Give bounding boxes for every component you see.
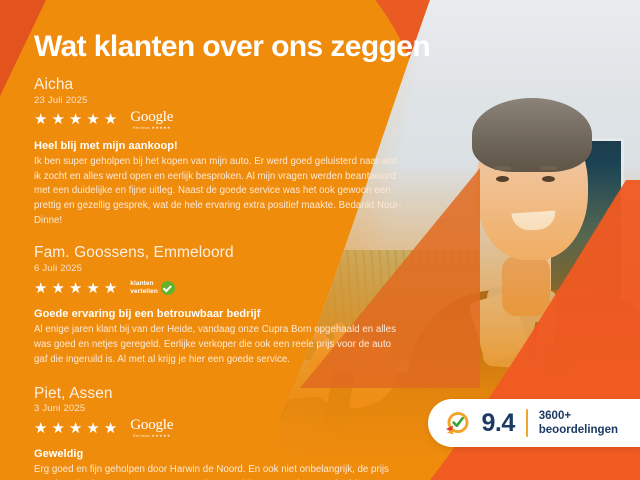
star-icon: ★ [51,112,65,127]
klantenvertellen-logo: klanten vertellen [130,280,175,296]
star-icon: ★ [51,421,65,436]
google-reviews-sublabel: Reviews ★★★★★ [133,126,171,130]
google-wordmark: Google [130,418,173,433]
review-date: 3 Juni 2025 [34,403,418,414]
review-author: Aicha [34,76,418,94]
star-icon: ★ [86,112,100,127]
review-card: Aicha 23 Juli 2025 ★ ★ ★ ★ ★ Google Revi… [34,76,418,228]
klantenvertellen-wordmark: klanten vertellen [130,280,158,296]
review-body: Al enige jaren klant bij van der Heide, … [34,323,406,367]
klantenvertellen-line-2: vertellen [130,288,158,296]
klantenvertellen-line-1: klanten [130,280,158,288]
rating-score: 9.4 [482,411,515,436]
star-icon: ★ [34,112,48,127]
google-wordmark: Google [130,110,173,125]
star-rating: ★ ★ ★ ★ ★ [34,112,118,127]
star-icon: ★ [104,421,118,436]
kiyoh-check-icon [444,410,471,437]
review-date: 23 Juli 2025 [34,95,418,106]
star-icon: ★ [34,421,48,436]
star-icon: ★ [69,112,83,127]
review-body: Ik ben super geholpen bij het kopen van … [34,155,406,229]
review-date: 6 Juli 2025 [34,263,418,274]
review-meta: ★ ★ ★ ★ ★ Google Reviews ★★★★★ [34,417,418,439]
rating-count-number: 3600+ [539,409,618,423]
rating-badge[interactable]: 9.4 3600+ beoordelingen [428,399,640,447]
check-circle-icon [161,281,175,295]
star-rating: ★ ★ ★ ★ ★ [34,421,118,436]
star-icon: ★ [34,281,48,296]
testimonials-content: Wat klanten over ons zeggen Aicha 23 Jul… [0,0,440,480]
star-icon: ★ [69,281,83,296]
google-reviews-logo: Google Reviews ★★★★★ [130,418,173,438]
page-title: Wat klanten over ons zeggen [34,0,418,63]
review-meta: ★ ★ ★ ★ ★ klanten vertellen [34,277,418,299]
star-icon: ★ [51,281,65,296]
review-body: Erg goed en fijn geholpen door Harwin de… [34,463,406,480]
star-icon: ★ [104,281,118,296]
review-title: Geweldig [34,448,418,460]
google-reviews-sublabel: Reviews ★★★★★ [133,434,171,438]
google-reviews-logo: Google Reviews ★★★★★ [130,110,173,130]
review-author: Fam. Goossens, Emmeloord [34,244,418,262]
review-card: Fam. Goossens, Emmeloord 6 Juli 2025 ★ ★… [34,244,418,367]
review-meta: ★ ★ ★ ★ ★ Google Reviews ★★★★★ [34,109,418,131]
star-icon: ★ [86,421,100,436]
review-author: Piet, Assen [34,385,418,403]
star-icon: ★ [104,112,118,127]
rating-count-label: beoordelingen [539,423,618,437]
rating-count: 3600+ beoordelingen [539,409,618,437]
star-icon: ★ [69,421,83,436]
star-icon: ★ [86,281,100,296]
badge-divider [526,409,528,437]
review-title: Goede ervaring bij een betrouwbaar bedri… [34,308,418,320]
review-title: Heel blij met mijn aankoop! [34,140,418,152]
star-rating: ★ ★ ★ ★ ★ [34,281,118,296]
review-card: Piet, Assen 3 Juni 2025 ★ ★ ★ ★ ★ Google… [34,385,418,480]
testimonial-banner: TDH Wat klanten over ons zeggen Aicha 23… [0,0,640,480]
